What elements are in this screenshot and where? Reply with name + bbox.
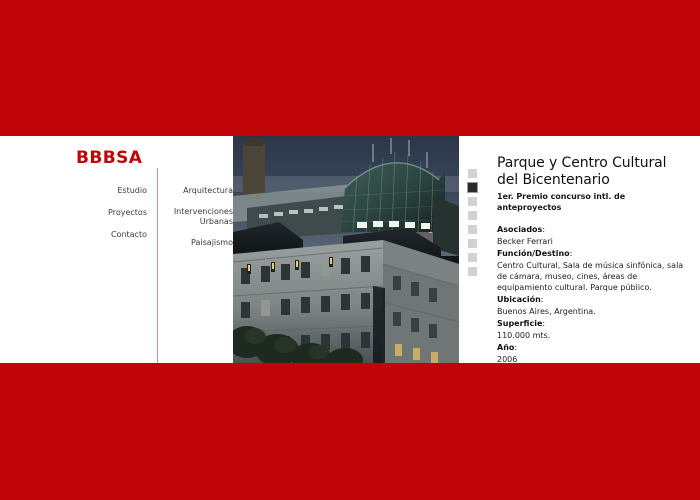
thumbnail-3[interactable] (467, 196, 478, 207)
spec-value-ubicacion: Buenos Aires, Argentina. (497, 306, 689, 317)
nav-item-contacto[interactable]: Contacto (30, 230, 147, 240)
spec-label-ubicacion: Ubicación: (497, 294, 689, 306)
nav-item-proyectos[interactable]: Proyectos (30, 208, 147, 218)
spec-value-funcion-destino: Centro Cultural, Sala de música sinfónic… (497, 260, 689, 293)
content-band: BBBSA Estudio Proyectos Contacto Arquite… (0, 136, 700, 363)
project-award: 1er. Premio concurso intl. de anteproyec… (497, 191, 689, 213)
nav-item-paisajismo[interactable]: Paisajismo (162, 238, 233, 248)
page-root: BBBSA Estudio Proyectos Contacto Arquite… (0, 0, 700, 500)
spec-value-superficie: 110.000 mts. (497, 330, 689, 341)
brand-and-navigation: BBBSA Estudio Proyectos Contacto Arquite… (0, 136, 233, 363)
site-logo[interactable]: BBBSA (76, 148, 142, 168)
spec-label-separator: : (514, 343, 517, 352)
nav-item-estudio[interactable]: Estudio (30, 186, 147, 196)
spec-label-separator: : (570, 249, 573, 258)
secondary-nav: Arquitectura Intervenciones Urbanas Pais… (162, 186, 233, 259)
project-title: Parque y Centro Cultural del Bicentenari… (497, 155, 689, 189)
thumbnail-7[interactable] (467, 252, 478, 263)
nav-item-intervenciones-urbanas[interactable]: Intervenciones Urbanas (162, 207, 233, 227)
spec-label-text: Función/Destino (497, 249, 570, 258)
spec-label-superficie: Superficie: (497, 318, 689, 330)
thumbnail-4[interactable] (467, 210, 478, 221)
nav-divider (157, 168, 158, 363)
project-render-illustration (233, 136, 459, 363)
thumbnail-6[interactable] (467, 238, 478, 249)
project-info-panel: Parque y Centro Cultural del Bicentenari… (497, 155, 689, 366)
nav-item-arquitectura[interactable]: Arquitectura (162, 186, 233, 196)
spec-label-separator: : (542, 225, 545, 234)
project-image-viewer[interactable] (233, 136, 459, 363)
spec-label-asociados: Asociados: (497, 224, 689, 236)
spec-label-separator: : (541, 295, 544, 304)
spec-label-text: Superficie (497, 319, 542, 328)
spec-label-text: Año (497, 343, 514, 352)
project-spec-list: Asociados: Becker Ferrari Función/Destin… (497, 224, 689, 365)
spec-label-ano: Año: (497, 342, 689, 354)
spec-label-text: Ubicación (497, 295, 541, 304)
spec-value-asociados: Becker Ferrari (497, 236, 689, 247)
thumbnail-8[interactable] (467, 266, 478, 277)
thumbnail-2[interactable] (467, 182, 478, 193)
magnifier-plus-icon[interactable] (400, 348, 459, 363)
thumbnail-1[interactable] (467, 168, 478, 179)
thumbnail-5[interactable] (467, 224, 478, 235)
spec-value-ano: 2006 (497, 354, 689, 365)
spec-label-funcion-destino: Función/Destino: (497, 248, 689, 260)
primary-nav: Estudio Proyectos Contacto (30, 186, 147, 252)
spec-label-separator: : (542, 319, 545, 328)
spec-label-text: Asociados (497, 225, 542, 234)
image-thumbnail-strip (462, 136, 484, 363)
